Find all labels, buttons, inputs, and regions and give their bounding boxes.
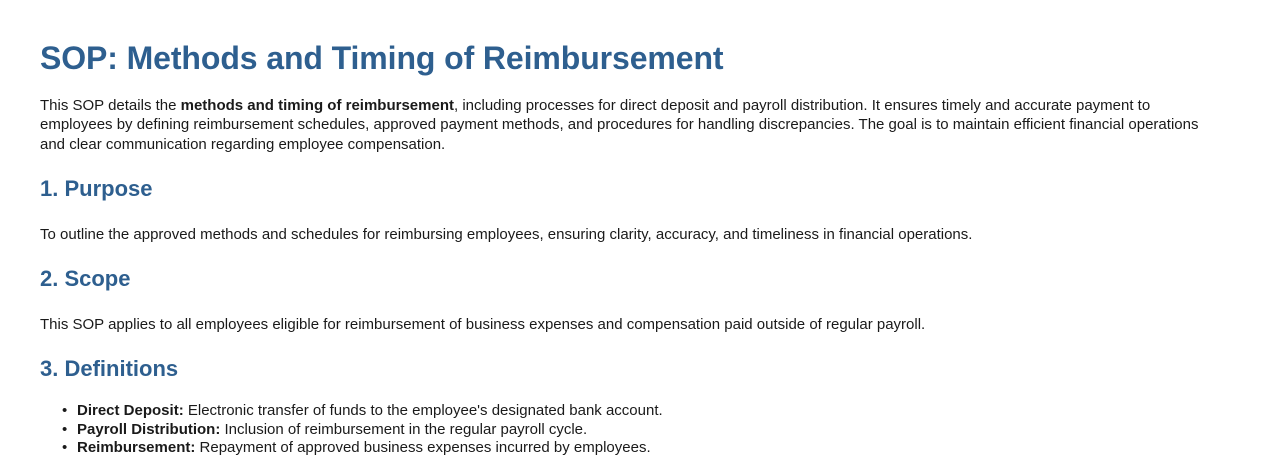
list-item: Payroll Distribution: Inclusion of reimb…: [77, 421, 1223, 440]
definition-term: Direct Deposit:: [77, 402, 184, 419]
page-title: SOP: Methods and Timing of Reimbursement: [40, 0, 1223, 78]
list-item: Direct Deposit: Electronic transfer of f…: [77, 402, 1223, 421]
definitions-list: Direct Deposit: Electronic transfer of f…: [40, 402, 1223, 458]
definition-term: Reimbursement:: [77, 439, 195, 456]
section-heading-scope: 2. Scope: [40, 266, 1223, 292]
document-page: SOP: Methods and Timing of Reimbursement…: [0, 0, 1263, 458]
definition-term: Payroll Distribution:: [77, 421, 220, 438]
definition-description: Repayment of approved business expenses …: [195, 439, 650, 456]
intro-bold-phrase: methods and timing of reimbursement: [181, 97, 454, 114]
list-item: Reimbursement: Repayment of approved bus…: [77, 439, 1223, 458]
definition-description: Electronic transfer of funds to the empl…: [184, 402, 663, 419]
section-heading-definitions: 3. Definitions: [40, 356, 1223, 382]
definition-description: Inclusion of reimbursement in the regula…: [220, 421, 587, 438]
section-heading-purpose: 1. Purpose: [40, 176, 1223, 202]
section-body-purpose: To outline the approved methods and sche…: [40, 225, 1223, 245]
intro-paragraph: This SOP details the methods and timing …: [40, 96, 1220, 155]
intro-text-before-bold: This SOP details the: [40, 97, 181, 114]
section-body-scope: This SOP applies to all employees eligib…: [40, 315, 1223, 335]
